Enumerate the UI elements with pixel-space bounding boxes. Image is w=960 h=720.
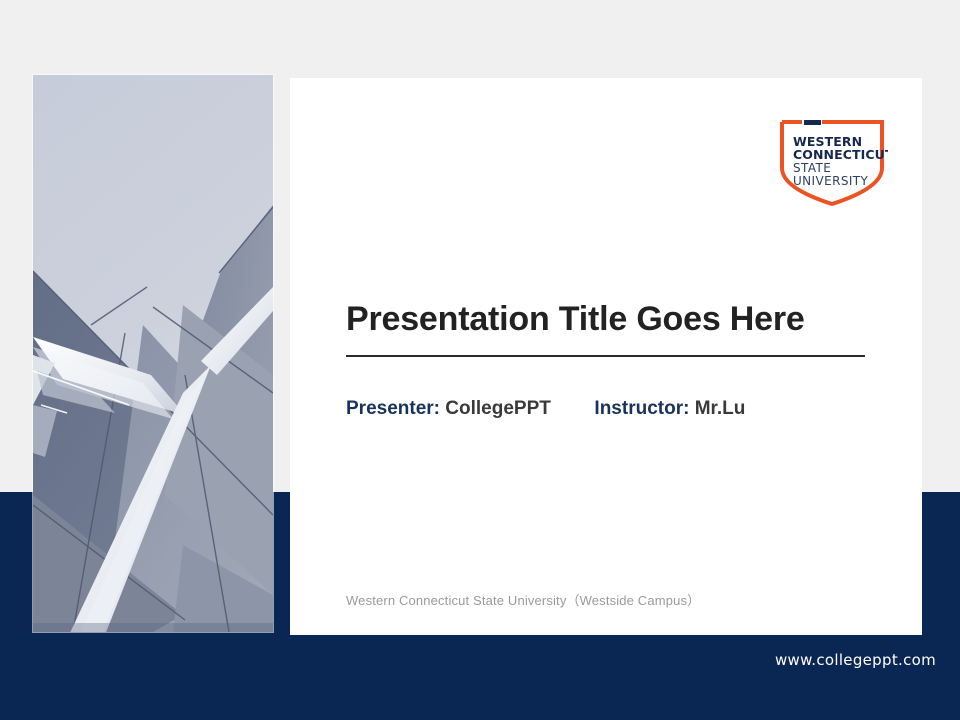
svg-text:STATE: STATE <box>793 161 831 175</box>
instructor-label: Instructor: <box>594 398 689 419</box>
credits-row: Presenter: CollegePPT Instructor: Mr.Lu <box>346 398 745 420</box>
presenter-value: CollegePPT <box>445 398 551 419</box>
university-logo: WESTERN CONNECTICUT STATE UNIVERSITY <box>776 110 888 206</box>
slide-stage: www.collegeppt.com <box>0 0 960 720</box>
instructor-value: Mr.Lu <box>695 398 746 419</box>
site-watermark: www.collegeppt.com <box>775 651 936 669</box>
architecture-photo-graphic <box>33 75 273 632</box>
svg-text:UNIVERSITY: UNIVERSITY <box>793 174 869 188</box>
architecture-photo <box>33 75 273 632</box>
content-card: WESTERN CONNECTICUT STATE UNIVERSITY Pre… <box>290 78 922 635</box>
svg-text:CONNECTICUT: CONNECTICUT <box>793 147 888 162</box>
shield-icon: WESTERN CONNECTICUT STATE UNIVERSITY <box>776 110 888 206</box>
campus-footer-text: Western Connecticut State University（Wes… <box>346 590 700 609</box>
page-title: Presentation Title Goes Here <box>346 300 866 338</box>
title-block: Presentation Title Goes Here <box>346 300 866 357</box>
title-divider <box>346 355 865 357</box>
presenter-label: Presenter: <box>346 398 440 419</box>
